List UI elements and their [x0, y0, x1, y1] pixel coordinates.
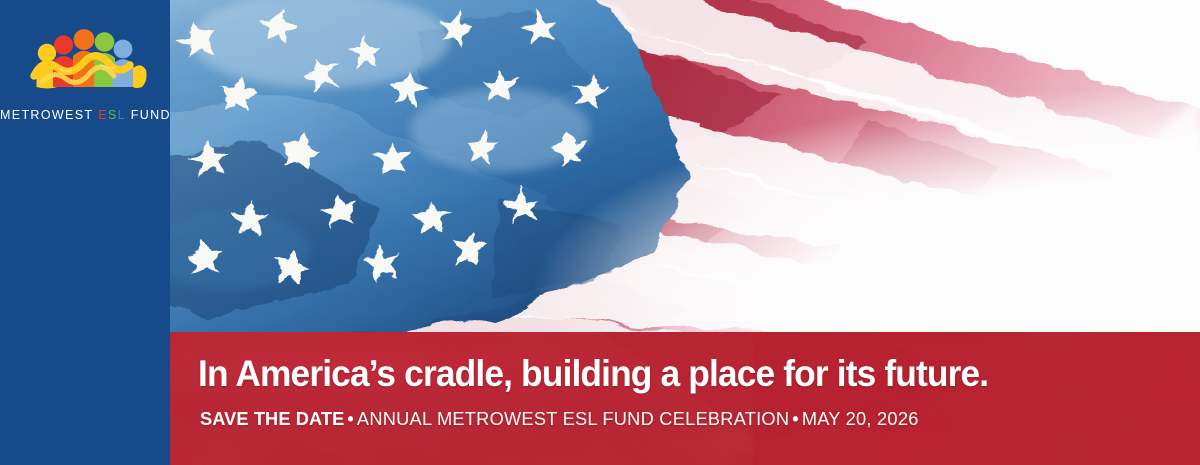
save-the-date-label: SAVE THE DATE: [200, 408, 344, 429]
message-bar: In America’s cradle, building a place fo…: [0, 332, 1200, 465]
wordmark-s: S: [108, 108, 118, 122]
logo-lockup[interactable]: METROWEST ESL FUND: [0, 22, 170, 122]
event-name: ANNUAL METROWEST ESL FUND CELEBRATION: [357, 408, 789, 429]
subhead: SAVE THE DATE•ANNUAL METROWEST ESL FUND …: [200, 408, 919, 430]
wordmark-l: L: [118, 108, 126, 122]
logo-wordmark: METROWEST ESL FUND: [0, 108, 170, 122]
wordmark-e: E: [98, 108, 108, 122]
metrowest-esl-fund-people-logo: [0, 22, 170, 94]
save-the-date-banner: In America’s cradle, building a place fo…: [0, 0, 1200, 465]
headline: In America’s cradle, building a place fo…: [198, 353, 988, 395]
logo-panel: METROWEST ESL FUND: [0, 0, 170, 465]
subhead-separator-2: •: [789, 408, 802, 429]
subhead-separator-1: •: [344, 408, 357, 429]
message-text-block: In America’s cradle, building a place fo…: [198, 332, 1200, 465]
event-date: MAY 20, 2026: [802, 408, 919, 429]
wordmark-fund: FUND: [131, 108, 171, 122]
wordmark-metrowest: METROWEST: [0, 108, 93, 122]
watercolor-flag-artwork: [170, 0, 1200, 335]
